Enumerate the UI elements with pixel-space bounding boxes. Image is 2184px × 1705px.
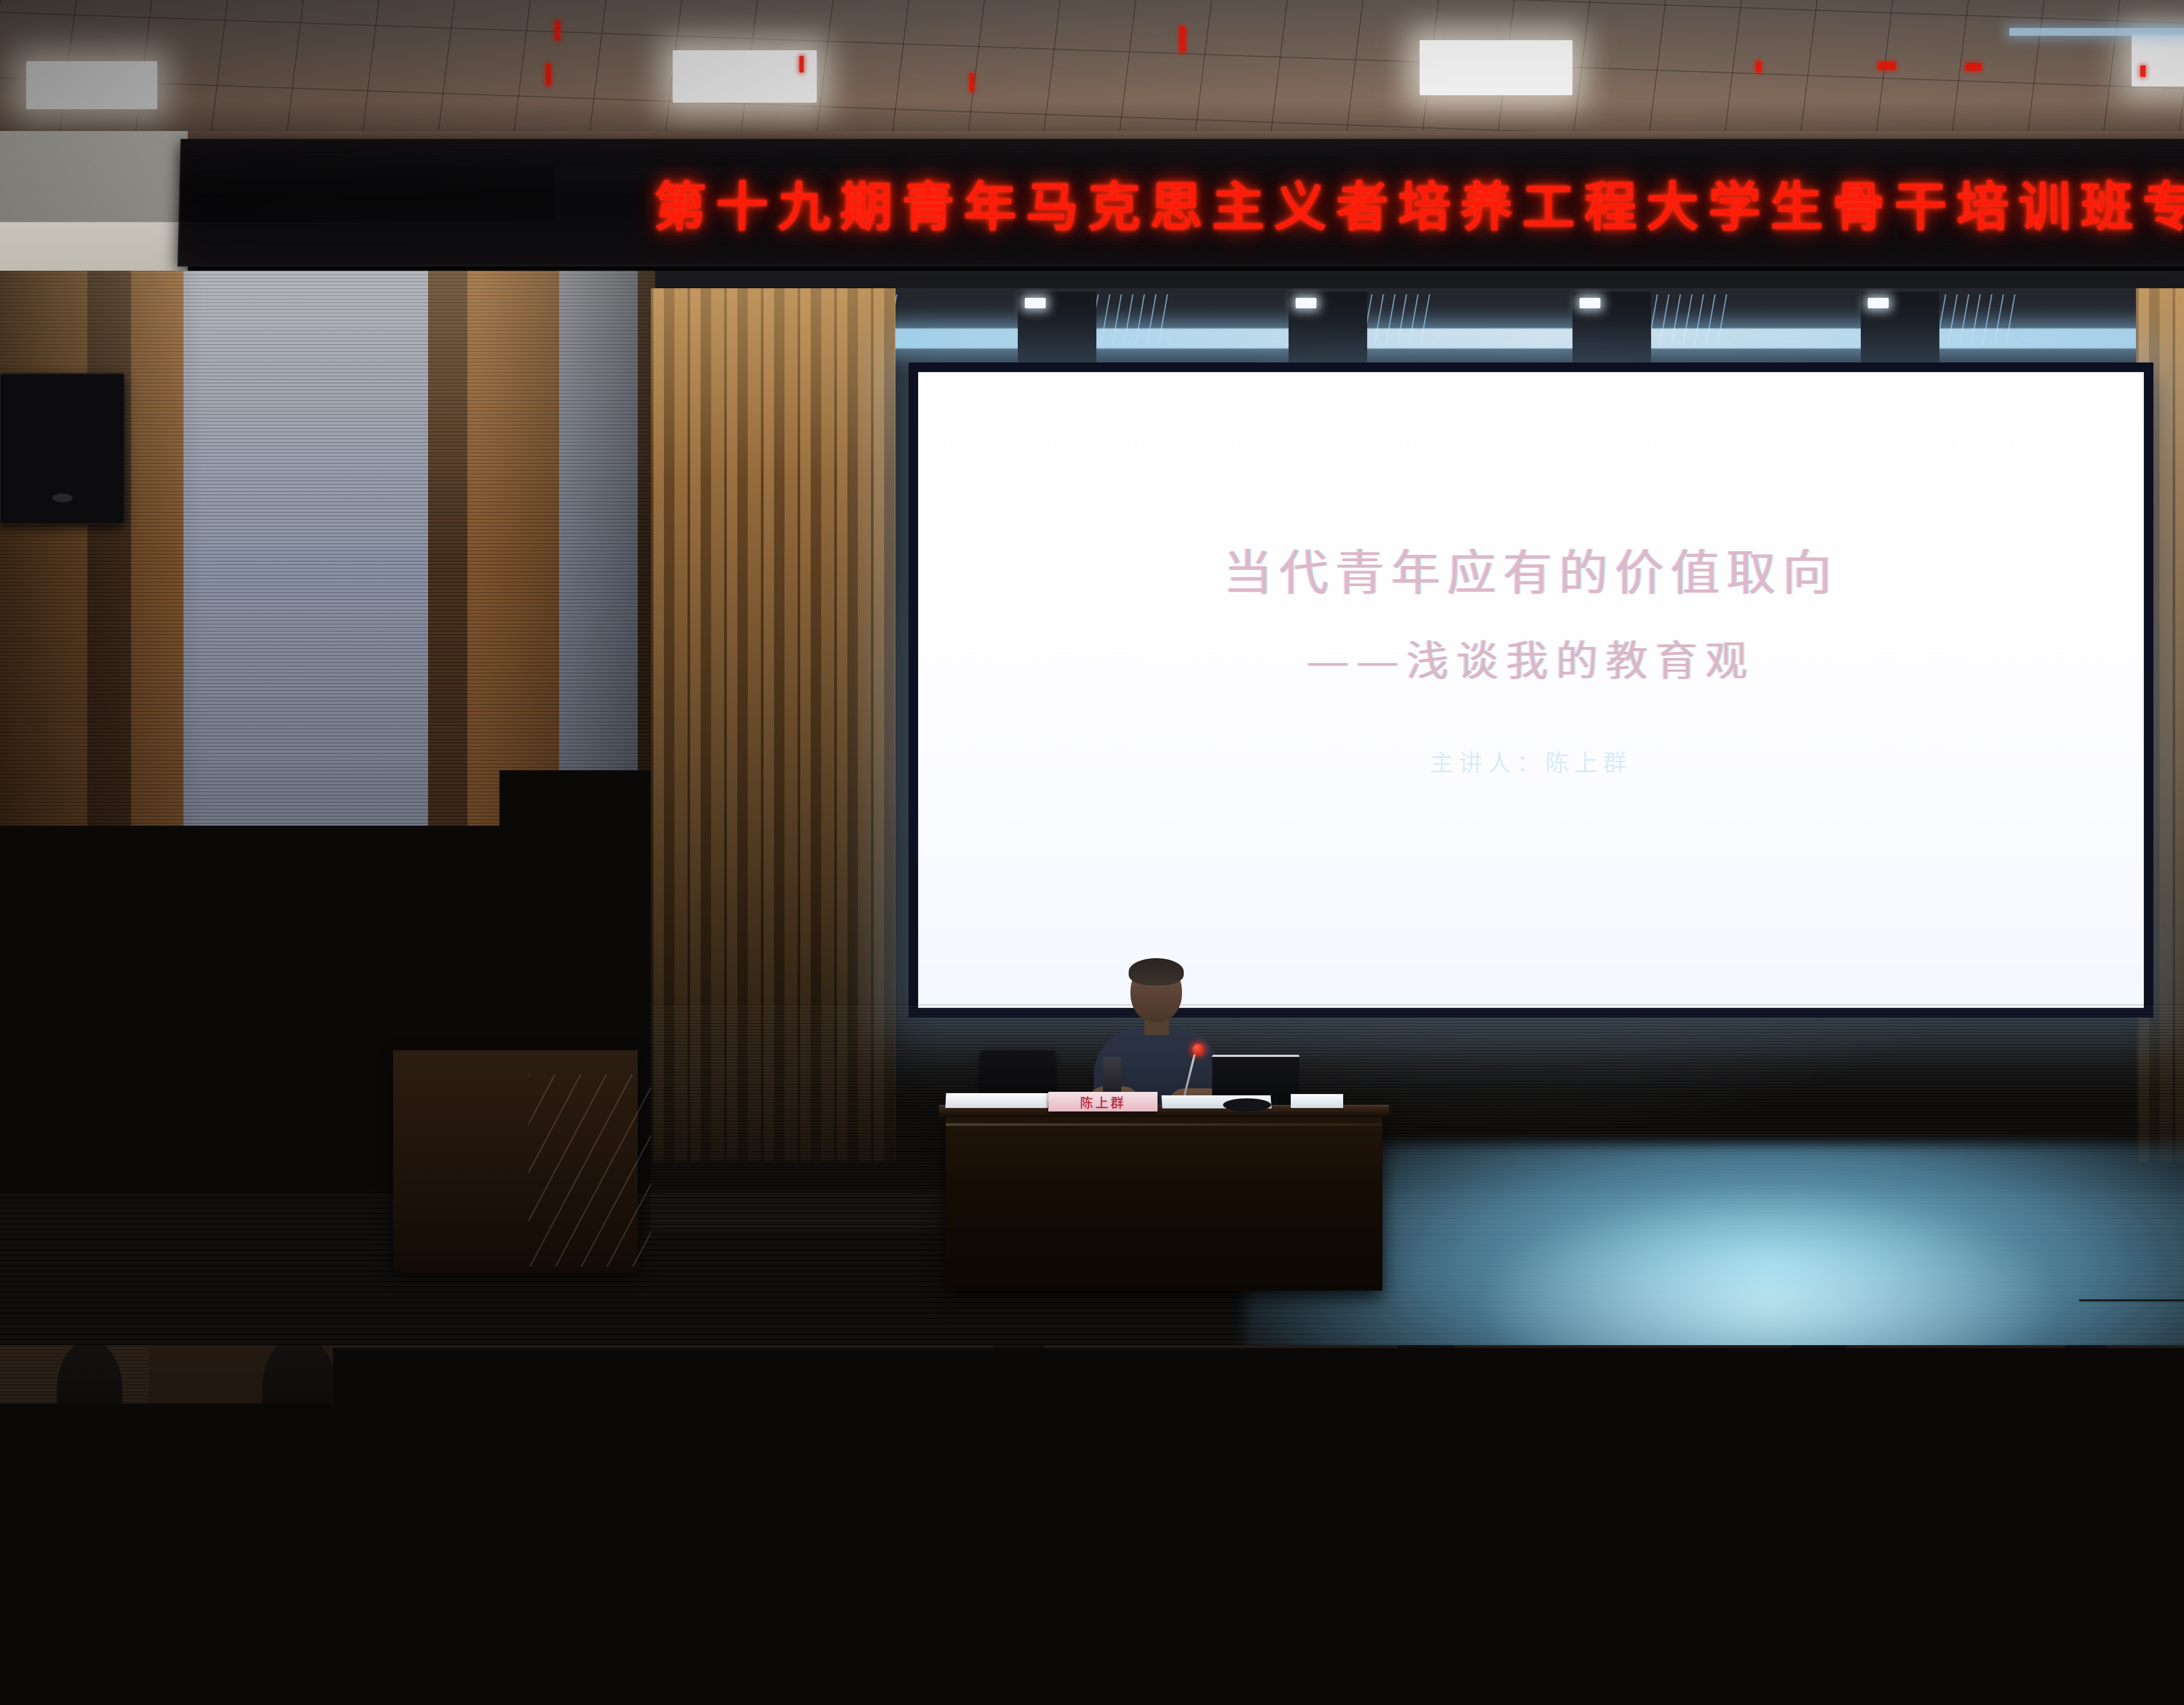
slide-presenter: 主讲人：陈上群: [1430, 744, 1632, 778]
paper-sheet: [1291, 1094, 1343, 1108]
name-placard: 陈上群: [1048, 1092, 1158, 1111]
ceiling-light-panel: [1420, 40, 1572, 95]
audience-seat: [1808, 1510, 1963, 1593]
ceiling-red-reflection: [1966, 63, 1981, 71]
audience-seat: [568, 1512, 721, 1593]
slide-subtitle: ——浅谈我的教育观: [1307, 627, 1755, 688]
stage-light-fixture: [1572, 292, 1651, 366]
led-banner-text: 第十九期青年马克思主义者培养工程大学生骨干培训班专题报告: [653, 165, 2184, 241]
audience-seat: [1555, 1606, 1743, 1705]
truss-light-bar: [734, 328, 2184, 349]
audience-seat: [2167, 1422, 2184, 1496]
audience-seat: [411, 1607, 596, 1705]
audience-seat: [856, 1425, 994, 1497]
paper-sheet: [945, 1093, 1049, 1108]
ceiling-red-reflection: [1179, 26, 1185, 52]
slide-title: 当代青年应有的价值取向: [1223, 534, 1838, 604]
audience-seat: [1302, 1422, 1441, 1496]
audience-seat: [970, 1510, 1125, 1593]
wall-speaker-left: [0, 373, 124, 524]
ceiling-red-reflection: [1756, 61, 1761, 72]
presenter-hair: [1129, 958, 1184, 985]
stage-light-fixture: [1861, 292, 1939, 366]
ceiling-tile-grid: [0, 0, 2184, 144]
ceiling-light-panel: [673, 50, 817, 103]
desk-microphone: [1223, 1098, 1271, 1111]
ceiling-light-panel: [2132, 34, 2184, 86]
ceiling-light-panel: [26, 61, 157, 109]
audience-head: [1957, 1577, 2046, 1705]
ceiling-red-reflection: [799, 56, 804, 72]
audience-seat: [0, 1424, 118, 1496]
audience-seat: [0, 1511, 127, 1592]
presenter-table: [946, 1111, 1382, 1291]
stage-cable: [2079, 1232, 2184, 1301]
audience-seat: [638, 1606, 826, 1705]
stage-light-fixture: [1289, 292, 1367, 366]
ceiling-red-reflection: [546, 64, 551, 86]
audience-head: [983, 1345, 1055, 1441]
audience-seat: [1787, 1607, 1972, 1705]
ceiling-red-reflection: [1878, 62, 1896, 70]
ceiling-red-reflection: [970, 73, 974, 92]
ceiling-blue-reflection: [2009, 28, 2184, 36]
audience-seat: [1096, 1606, 1284, 1705]
stage-light-fixture: [1018, 292, 1096, 366]
microphone-indicator-light: [1192, 1044, 1204, 1055]
audience-seat: [1524, 1423, 1663, 1496]
table-edge-highlight: [946, 1123, 1382, 1126]
water-bottle: [417, 1370, 436, 1436]
name-placard-text: 陈上群: [1080, 1092, 1126, 1111]
audience-seat: [2027, 1511, 2182, 1593]
audience-head: [1472, 1581, 1559, 1705]
auditorium-scene: 第十九期青年马克思主义者培养工程大学生骨干培训班专题报告: [0, 0, 2184, 1705]
audience-seat: [183, 1606, 371, 1705]
audience-seat: [0, 1607, 149, 1705]
led-banner: 第十九期青年马克思主义者培养工程大学生骨干培训班专题报告: [177, 139, 2184, 266]
audience-head: [1782, 1345, 1856, 1441]
stage-podium-front-panel: [529, 1074, 651, 1267]
ceiling-red-reflection: [555, 21, 560, 40]
audience-head: [821, 1572, 913, 1705]
projection-screen: 当代青年应有的价值取向 ——浅谈我的教育观 主讲人：陈上群: [918, 372, 2144, 1008]
audience-seat: [183, 1423, 323, 1496]
projection-screen-frame: 当代青年应有的价值取向 ——浅谈我的教育观 主讲人：陈上群: [909, 362, 2153, 1018]
stage-cable: [638, 1269, 926, 1321]
audience-seating-area: [0, 1345, 2184, 1705]
ceiling-red-reflection: [2140, 66, 2146, 77]
ceiling: [0, 0, 2184, 144]
